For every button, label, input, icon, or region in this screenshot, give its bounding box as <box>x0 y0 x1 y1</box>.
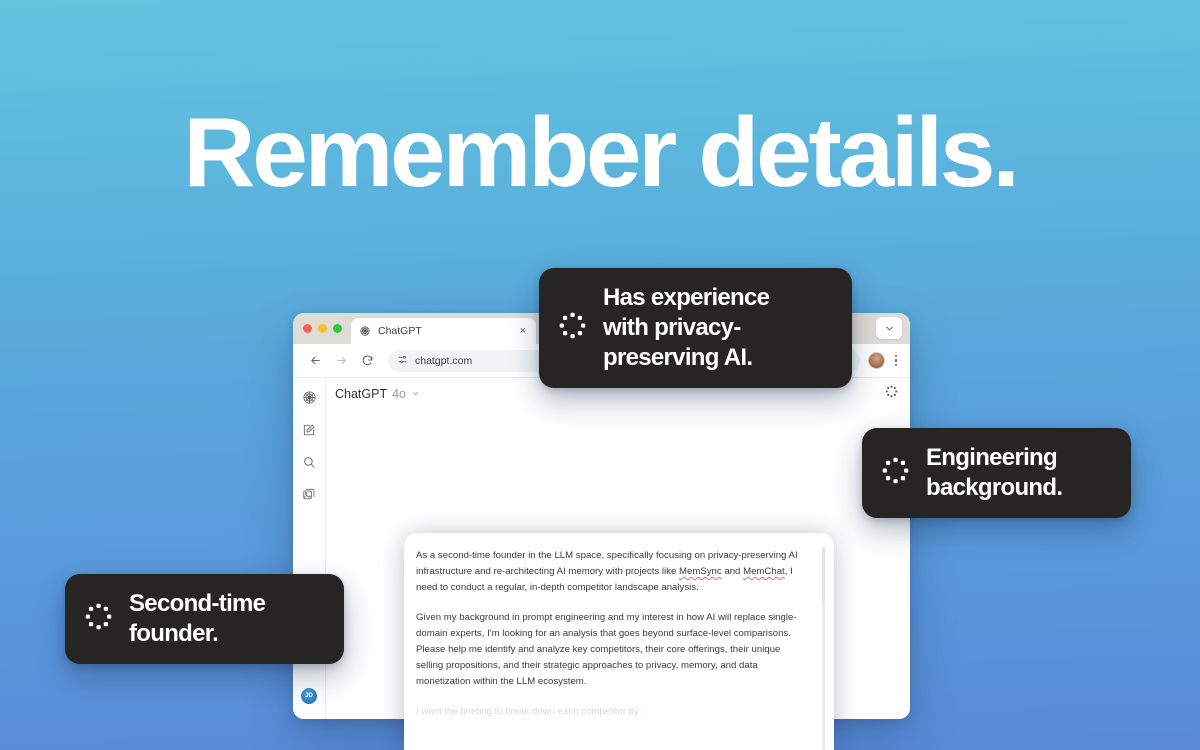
forward-icon[interactable] <box>328 348 354 374</box>
window-zoom-button[interactable] <box>333 324 342 333</box>
prompt-composer-card[interactable]: As a second-time founder in the LLM spac… <box>404 533 834 750</box>
model-version: 4o <box>392 387 406 401</box>
openai-logo-icon <box>359 325 371 337</box>
prompt-text: As a second-time founder in the LLM spac… <box>416 548 808 720</box>
sliders-icon[interactable] <box>397 354 408 368</box>
search-icon[interactable] <box>301 453 318 470</box>
memory-badge-engineering: Engineering background. <box>862 428 1131 518</box>
memory-badge-text: Has experience with privacy- preserving … <box>603 283 769 373</box>
openai-logo-icon[interactable] <box>301 389 318 406</box>
library-icon[interactable] <box>301 485 318 502</box>
misspelled-word: MemChat <box>743 566 785 577</box>
scrollbar[interactable] <box>822 547 825 750</box>
prompt-text-run: Given my background in prompt engineerin… <box>416 612 797 688</box>
address-bar-url: chatgpt.com <box>415 355 472 367</box>
toolbar-right-cluster <box>868 352 902 369</box>
memory-ring-icon[interactable] <box>885 385 898 403</box>
memory-badge-privacy: Has experience with privacy- preserving … <box>539 268 852 388</box>
avatar[interactable] <box>868 352 885 369</box>
prompt-text-run: I want the briefing to break down each c… <box>416 706 642 717</box>
chevron-down-icon <box>411 389 420 400</box>
window-close-button[interactable] <box>303 324 312 333</box>
prompt-paragraph: I want the briefing to break down each c… <box>416 704 808 720</box>
memory-badge-text: Engineering background. <box>926 443 1062 503</box>
back-icon[interactable] <box>302 348 328 374</box>
window-traffic-lights <box>301 313 351 344</box>
reload-icon[interactable] <box>354 348 380 374</box>
memory-ring-icon <box>84 602 113 636</box>
account-avatar[interactable]: JD <box>301 688 317 704</box>
memory-ring-icon <box>881 456 910 490</box>
page-headline: Remember details. <box>0 98 1200 206</box>
prompt-text-run: and <box>722 566 743 577</box>
model-name: ChatGPT <box>335 387 387 401</box>
browser-tab-title: ChatGPT <box>378 325 511 337</box>
memory-badge-founder: Second-time founder. <box>65 574 344 664</box>
prompt-paragraph: As a second-time founder in the LLM spac… <box>416 548 808 597</box>
prompt-paragraph: Given my background in prompt engineerin… <box>416 610 808 691</box>
model-selector[interactable]: ChatGPT 4o <box>335 387 420 401</box>
chatgpt-sidebar-rail: JD <box>293 378 326 719</box>
kebab-menu-icon[interactable] <box>891 355 902 367</box>
browser-tab-chatgpt[interactable]: ChatGPT × <box>351 318 536 344</box>
close-icon[interactable]: × <box>518 326 528 337</box>
misspelled-word: MemSync <box>679 566 722 577</box>
compose-icon[interactable] <box>301 421 318 438</box>
window-minimize-button[interactable] <box>318 324 327 333</box>
chevron-down-icon[interactable] <box>876 317 902 339</box>
memory-badge-text: Second-time founder. <box>129 589 265 649</box>
memory-ring-icon <box>558 311 587 345</box>
